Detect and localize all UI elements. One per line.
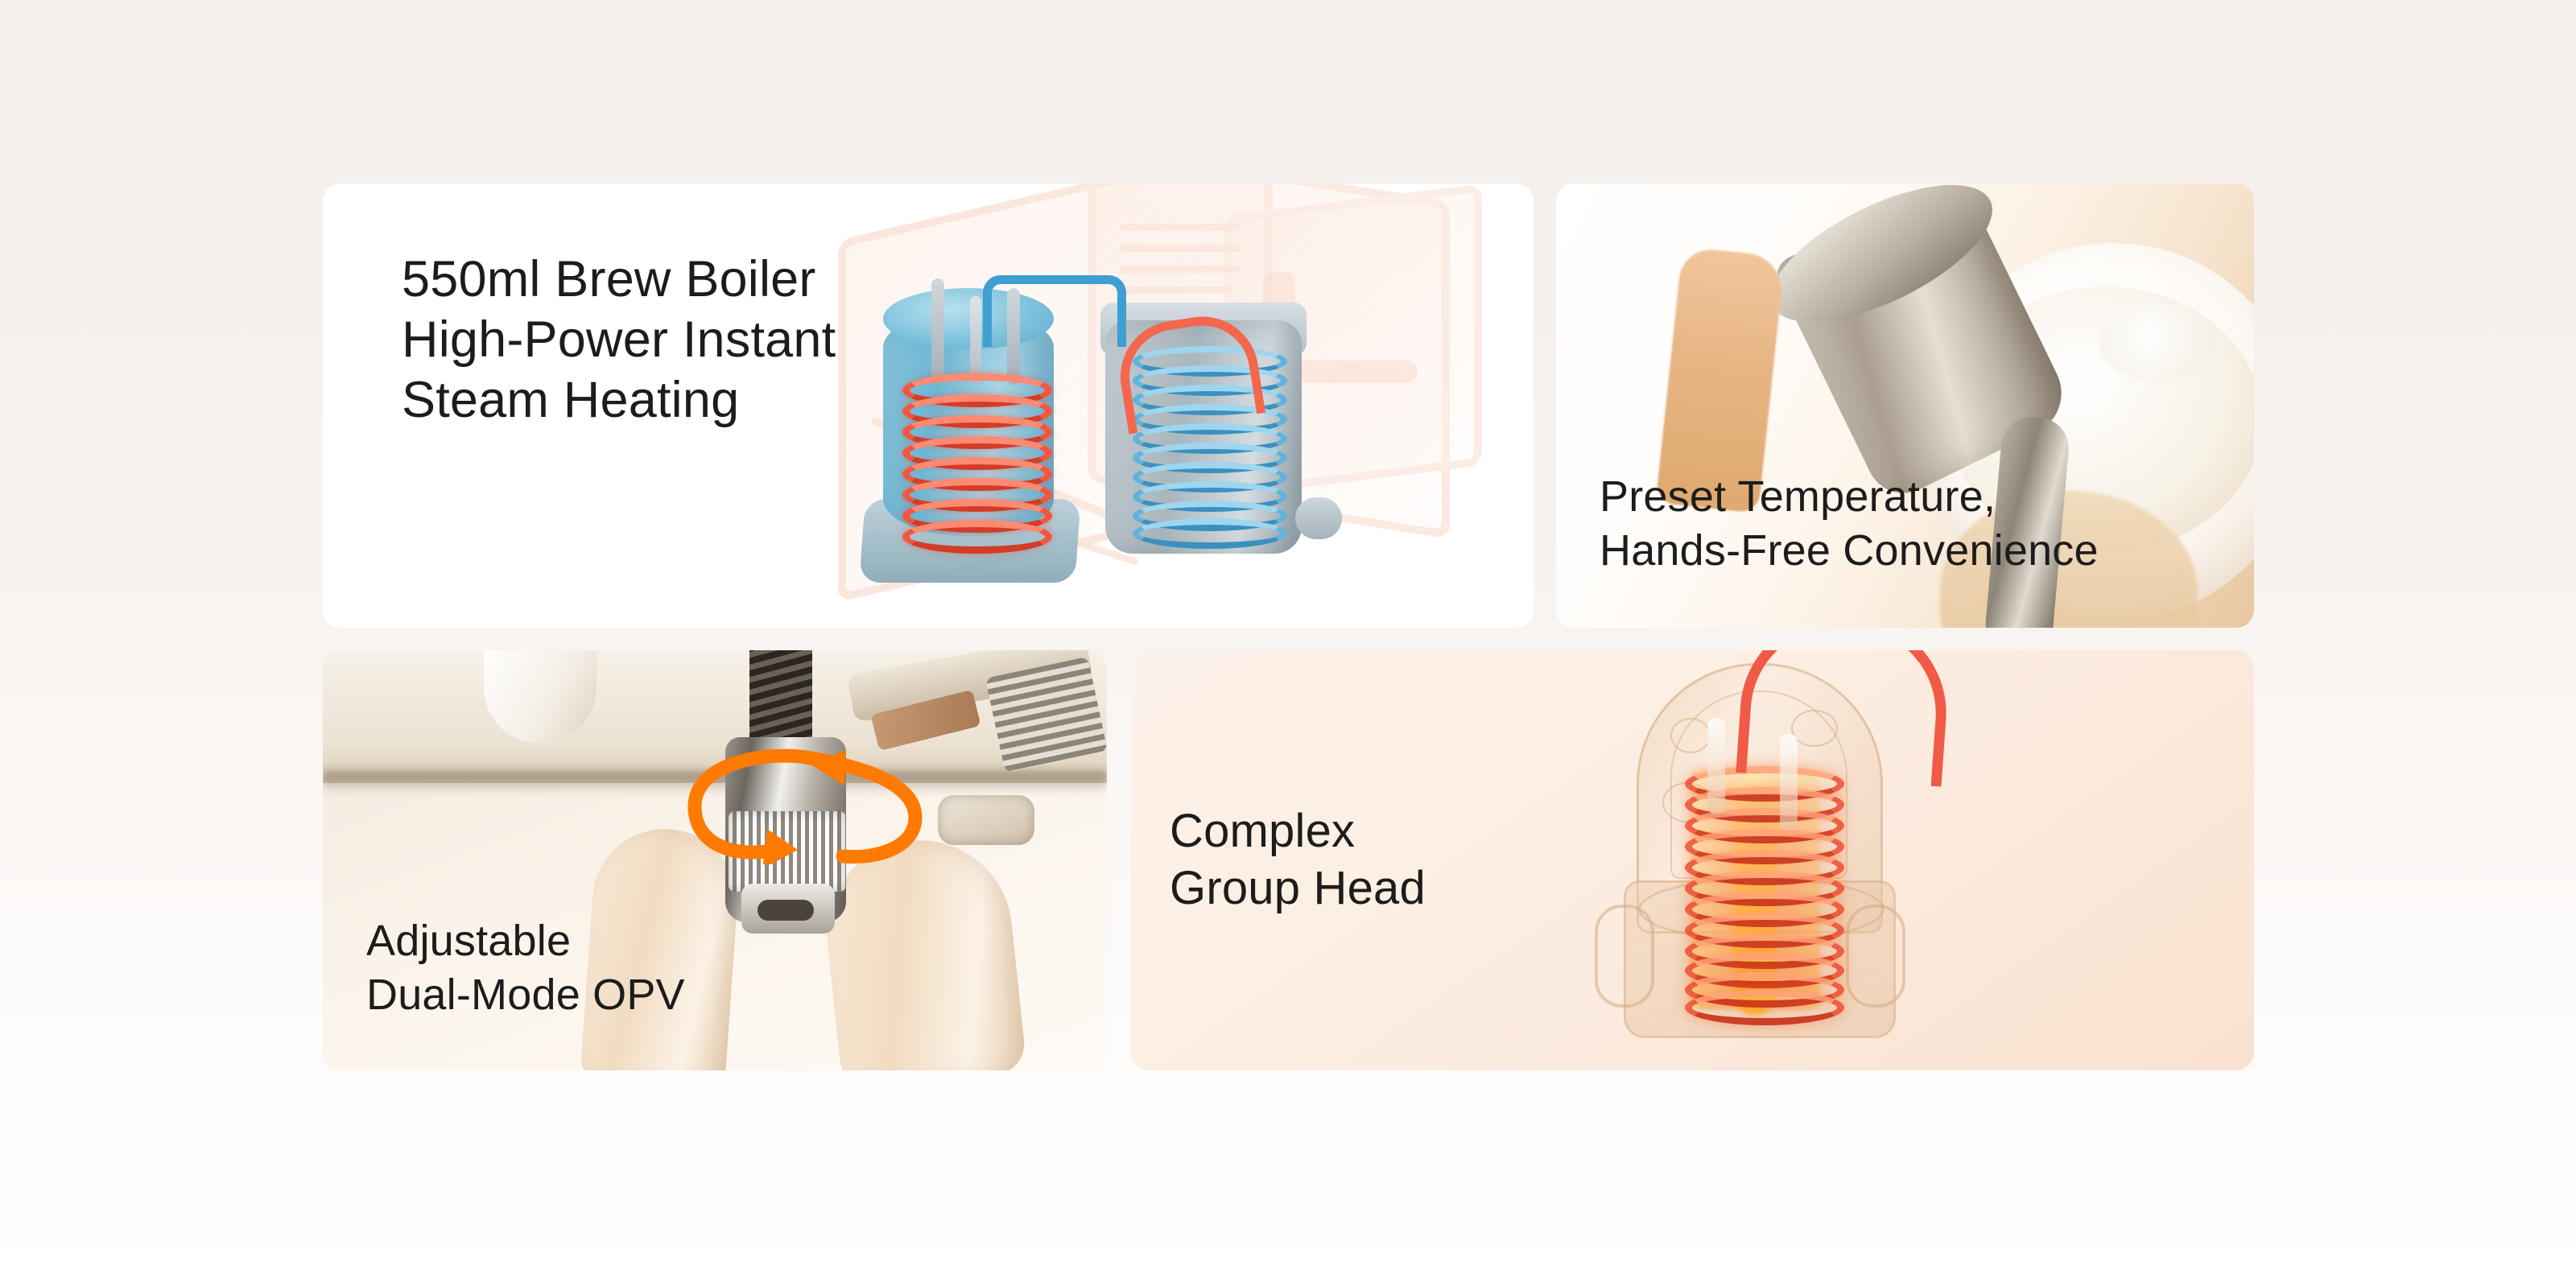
group-head-ear-right	[1846, 905, 1905, 1008]
group-head-pin-1	[1707, 718, 1725, 814]
card-adjustable-opv[interactable]: Adjustable Dual-Mode OPV	[323, 650, 1107, 1070]
card-adjustable-opv-caption: Adjustable Dual-Mode OPV	[366, 914, 685, 1022]
brew-boiler-probe-1	[931, 278, 944, 383]
finger-right	[818, 831, 1027, 1070]
brew-boiler-probe-2	[970, 296, 981, 385]
brew-boiler-probe-3	[1007, 288, 1020, 385]
card-preset-temperature-caption: Preset Temperature, Hands-Free Convenien…	[1600, 470, 2099, 578]
card-complex-group-head-caption: Complex Group Head	[1170, 803, 1426, 917]
opv-outlet-hole	[758, 900, 814, 921]
group-head-detail-a	[1670, 718, 1711, 753]
brew-boiler-heating-coil	[902, 373, 1038, 542]
steam-boiler-port	[1295, 497, 1342, 539]
card-brew-boiler-caption: 550ml Brew Boiler High-Power Instant Ste…	[402, 249, 836, 431]
card-complex-group-head[interactable]: Complex Group Head	[1131, 650, 2254, 1070]
brew-boiler-illustration	[741, 183, 1534, 628]
feature-card-grid: 550ml Brew Boiler High-Power Instant Ste…	[0, 0, 2576, 1278]
group-head-red-tube	[1736, 650, 1953, 787]
group-head-ear-left	[1595, 905, 1654, 1008]
group-head-illustration	[1550, 650, 2049, 1070]
milk-foam	[2099, 304, 2220, 381]
rotation-arrows-icon	[645, 744, 959, 864]
card-preset-temperature[interactable]: Preset Temperature, Hands-Free Convenien…	[1556, 183, 2254, 628]
brew-boiler-handle-tube	[983, 275, 1126, 347]
valve-thread	[749, 650, 812, 750]
card-brew-boiler[interactable]: 550ml Brew Boiler High-Power Instant Ste…	[323, 183, 1534, 628]
group-head-heating-coil	[1685, 766, 1830, 1016]
